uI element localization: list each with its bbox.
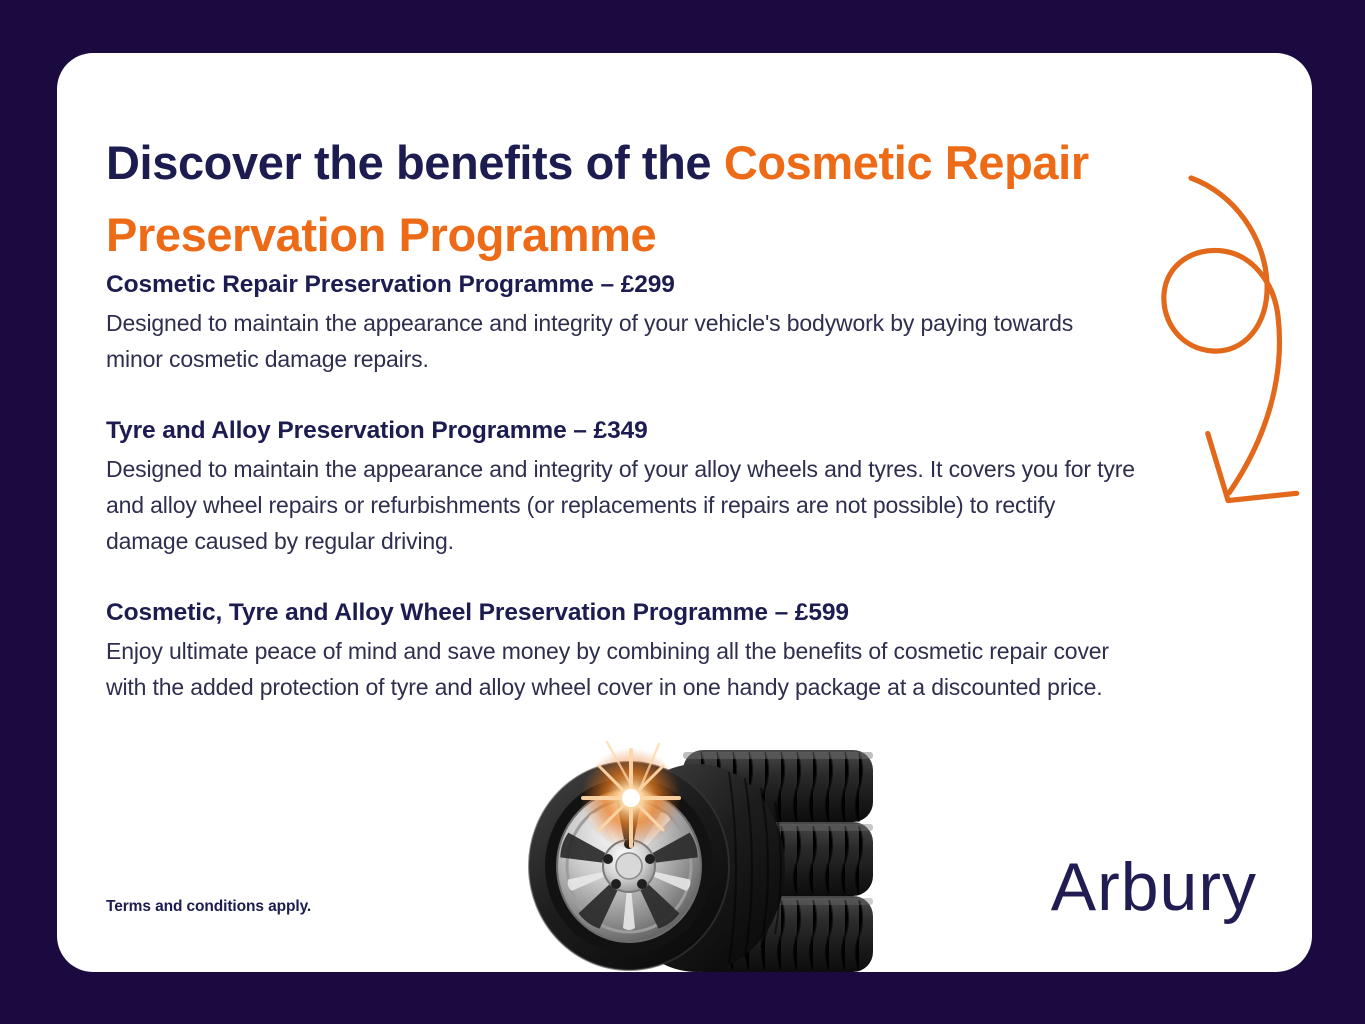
terms-and-conditions-note: Terms and conditions apply. [106,898,311,916]
programme-title: Tyre and Alloy Preservation Programme – … [106,414,1136,447]
poster-canvas: Discover the benefits of the Cosmetic Re… [0,0,1365,1024]
arbury-logo: Arbury [1051,853,1257,921]
curved-swirl-arrow-icon [1117,108,1312,528]
page-title: Discover the benefits of the Cosmetic Re… [106,127,1116,270]
programme-list: Cosmetic Repair Preservation Programme –… [106,268,1136,706]
orange-sparkle-icon [581,742,681,848]
programme-description: Enjoy ultimate peace of mind and save mo… [106,634,1136,705]
programme-item: Tyre and Alloy Preservation Programme – … [106,414,1136,559]
programme-title: Cosmetic, Tyre and Alloy Wheel Preservat… [106,596,1136,629]
programme-title: Cosmetic Repair Preservation Programme –… [106,268,1136,301]
programme-item: Cosmetic Repair Preservation Programme –… [106,268,1136,377]
programme-item: Cosmetic, Tyre and Alloy Wheel Preservat… [106,596,1136,705]
content-card: Discover the benefits of the Cosmetic Re… [57,53,1312,972]
programme-description: Designed to maintain the appearance and … [106,306,1136,377]
stacked-tyres-alloy-wheel-image [487,736,897,972]
page-title-lead: Discover the benefits of the [106,136,724,189]
programme-description: Designed to maintain the appearance and … [106,452,1136,559]
